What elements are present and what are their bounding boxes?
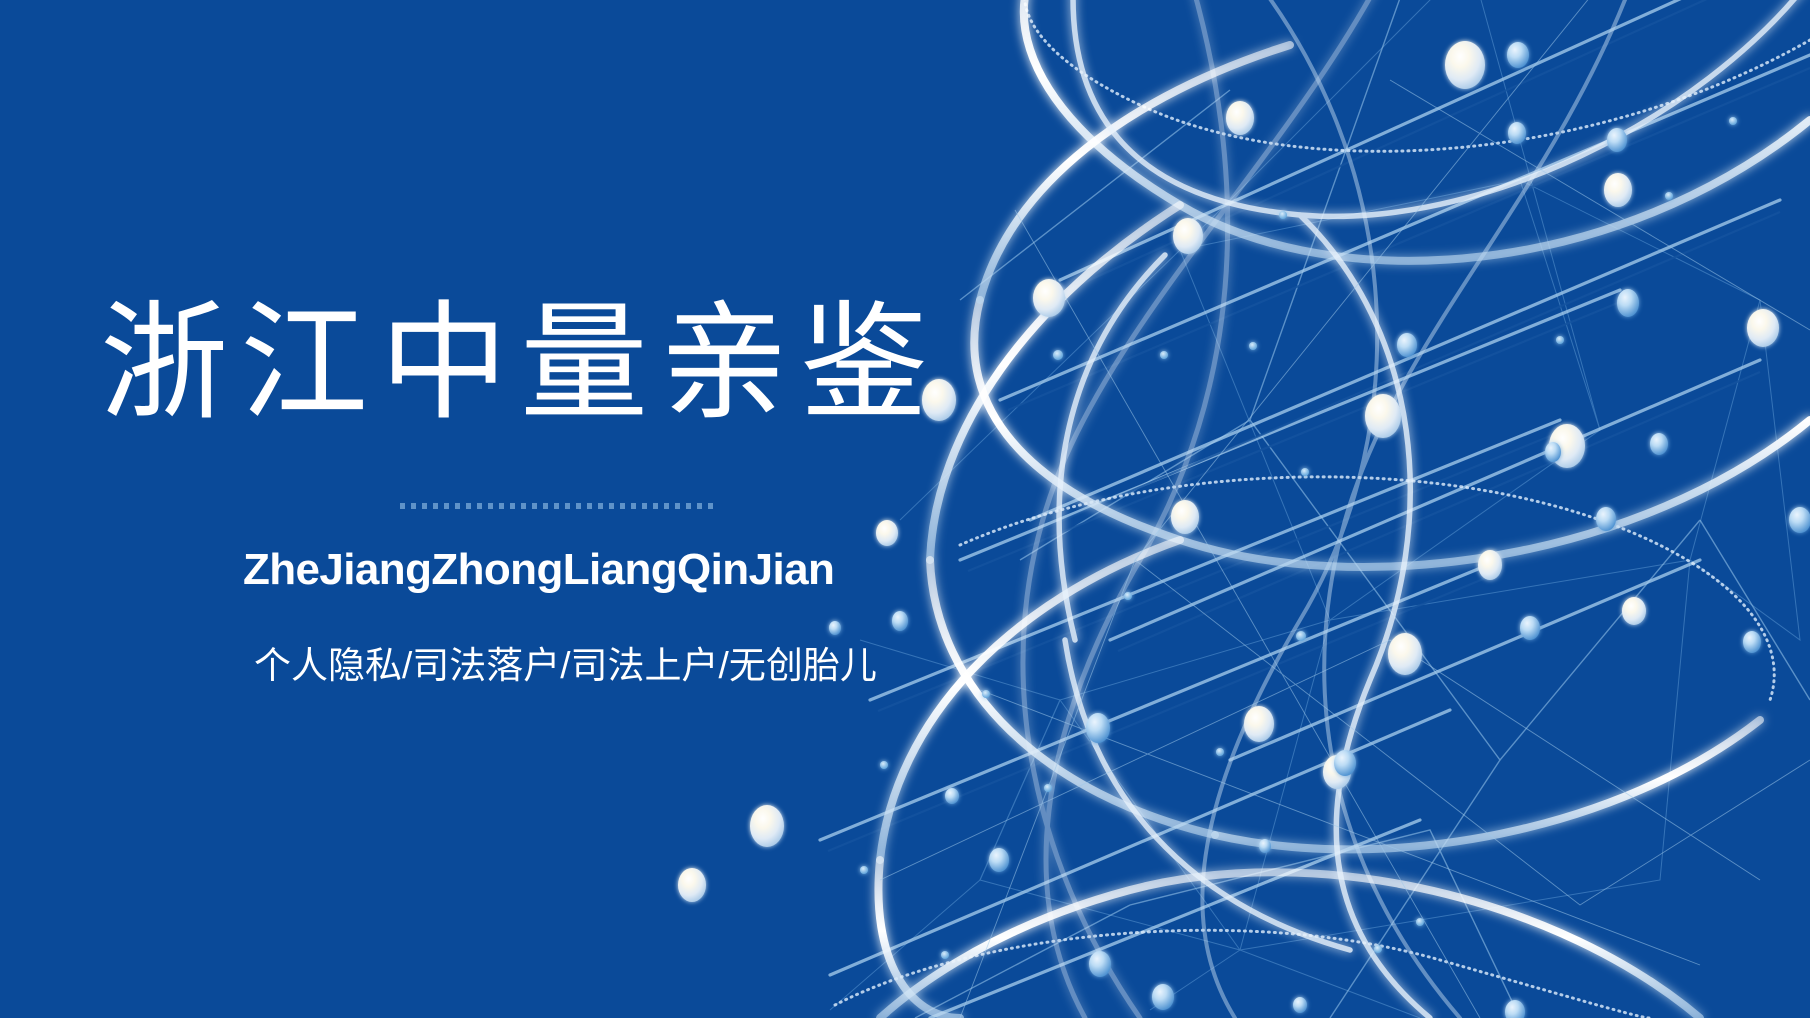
divider-dot (620, 503, 625, 509)
divider-dot (708, 503, 713, 509)
divider-dot (554, 503, 559, 509)
divider-dot (466, 503, 471, 509)
divider-dot (510, 503, 515, 509)
divider-dot (499, 503, 504, 509)
services-tagline: 个人隐私/司法落户/司法上户/无创胎儿 (254, 635, 877, 689)
divider-dot (477, 503, 482, 509)
divider-dot (675, 503, 680, 509)
divider-dot (697, 503, 702, 509)
divider-dot (642, 503, 647, 509)
hero-text-block: 浙江中量亲鉴 ZheJiangZhongLiangQinJian 个人隐私/司法… (0, 0, 1100, 1018)
divider-dot (587, 503, 592, 509)
divider-dot (455, 503, 460, 509)
divider-dot (532, 503, 537, 509)
divider-dot (411, 503, 416, 509)
divider-dot (609, 503, 614, 509)
dotted-divider (400, 503, 720, 509)
divider-dot (631, 503, 636, 509)
divider-dot (576, 503, 581, 509)
divider-dot (598, 503, 603, 509)
helix-strand-back-2 (1202, 0, 1640, 1018)
divider-dot (686, 503, 691, 509)
divider-dot (444, 503, 449, 509)
page-title: 浙江中量亲鉴 (100, 300, 940, 428)
divider-dot (653, 503, 658, 509)
divider-dot (543, 503, 548, 509)
divider-dot (565, 503, 570, 509)
divider-dot (521, 503, 526, 509)
title-slide: 浙江中量亲鉴 ZheJiangZhongLiangQinJian 个人隐私/司法… (0, 0, 1810, 1018)
pinyin-subtitle: ZheJiangZhongLiangQinJian (243, 545, 834, 595)
helix-strand-front-2 (1059, 0, 1810, 1018)
divider-dot (664, 503, 669, 509)
divider-dot (400, 503, 405, 509)
divider-dot (433, 503, 438, 509)
divider-dot (488, 503, 493, 509)
divider-dot (422, 503, 427, 509)
